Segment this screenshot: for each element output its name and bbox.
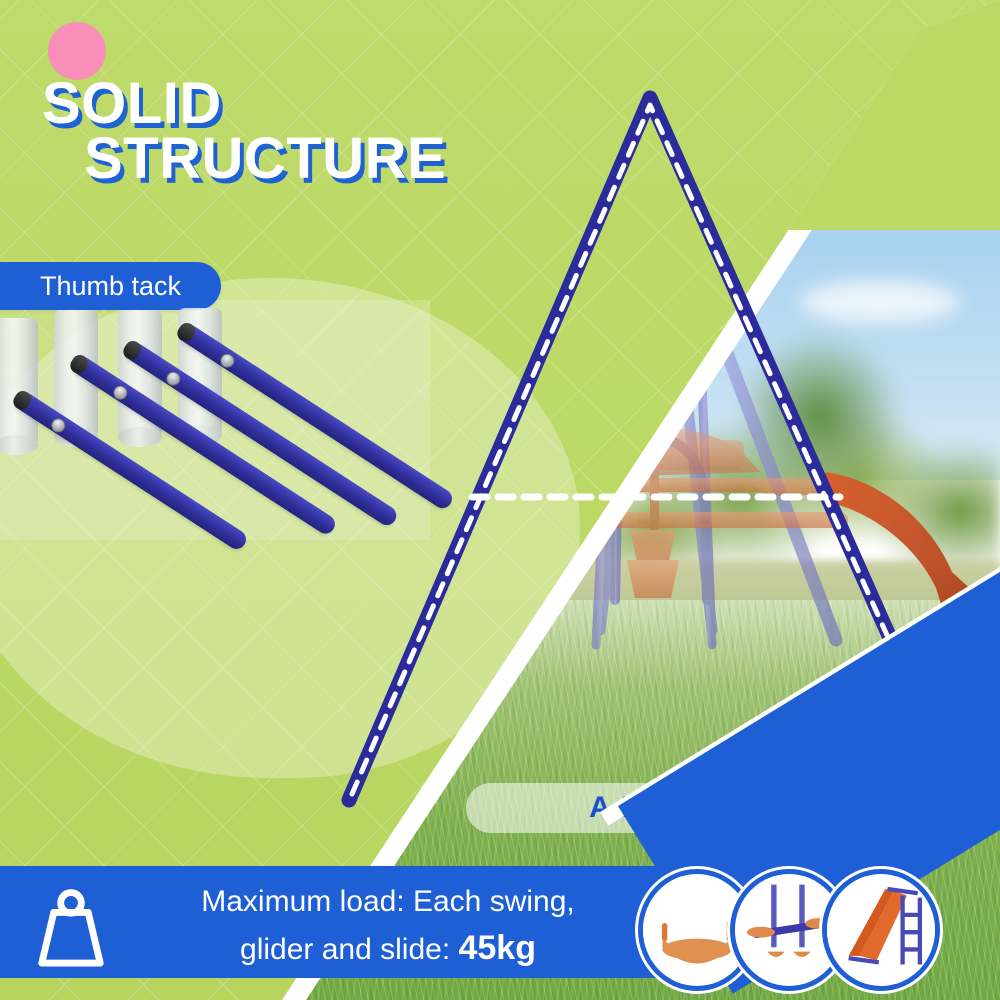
- product-thumbnails: [638, 869, 928, 981]
- thumb-tack-label: Thumb tack: [0, 262, 221, 310]
- max-load-line-2-prefix: glider and slide:: [240, 933, 458, 966]
- product-feature-image: SOLID STRUCTURE Thumb tack A-Frame Maxim…: [0, 0, 1000, 1000]
- page-title: SOLID STRUCTURE: [42, 20, 446, 243]
- metal-tube: [0, 318, 38, 446]
- thumb-tack-label-text: Thumb tack: [40, 271, 181, 302]
- weight-icon: [28, 884, 114, 970]
- title-line-2: STRUCTURE: [84, 131, 446, 187]
- max-load-line-1: Maximum load: Each swing,: [128, 880, 648, 924]
- max-load-value: 45kg: [458, 929, 536, 967]
- max-load-text: Maximum load: Each swing, glider and sli…: [128, 880, 648, 973]
- slide-thumbnail[interactable]: [822, 869, 940, 991]
- max-load-line-2: glider and slide: 45kg: [128, 924, 648, 973]
